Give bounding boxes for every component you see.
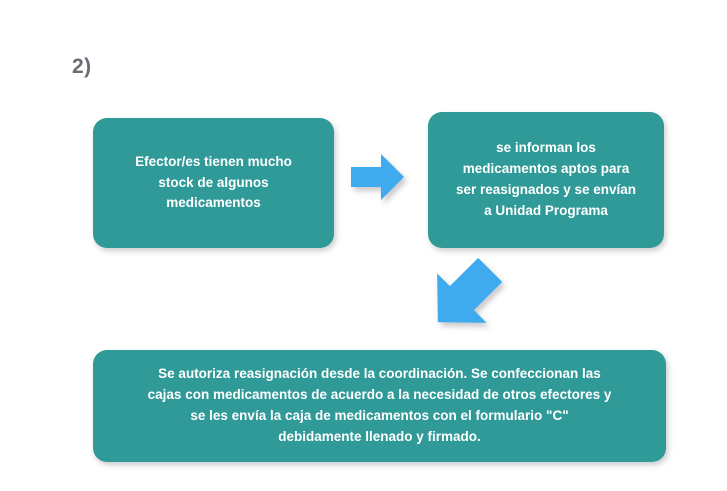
step-number-label: 2) <box>72 55 92 79</box>
flow-box-report-medicines-text: se informan los medicamentos aptos para … <box>440 138 652 222</box>
arrow-down-left-icon <box>423 255 505 337</box>
flow-box-report-medicines: se informan los medicamentos aptos para … <box>428 112 664 248</box>
flow-box-source-stock: Efector/es tienen mucho stock de algunos… <box>93 118 334 248</box>
arrow-right-icon <box>351 152 405 202</box>
flow-box-authorize-reassignment-text: Se autoriza reasignación desde la coordi… <box>105 364 654 448</box>
flow-box-authorize-reassignment: Se autoriza reasignación desde la coordi… <box>93 350 666 462</box>
diagram-canvas: 2) Efector/es tienen mucho stock de algu… <box>0 0 727 491</box>
flow-box-source-stock-text: Efector/es tienen mucho stock de algunos… <box>105 152 322 215</box>
